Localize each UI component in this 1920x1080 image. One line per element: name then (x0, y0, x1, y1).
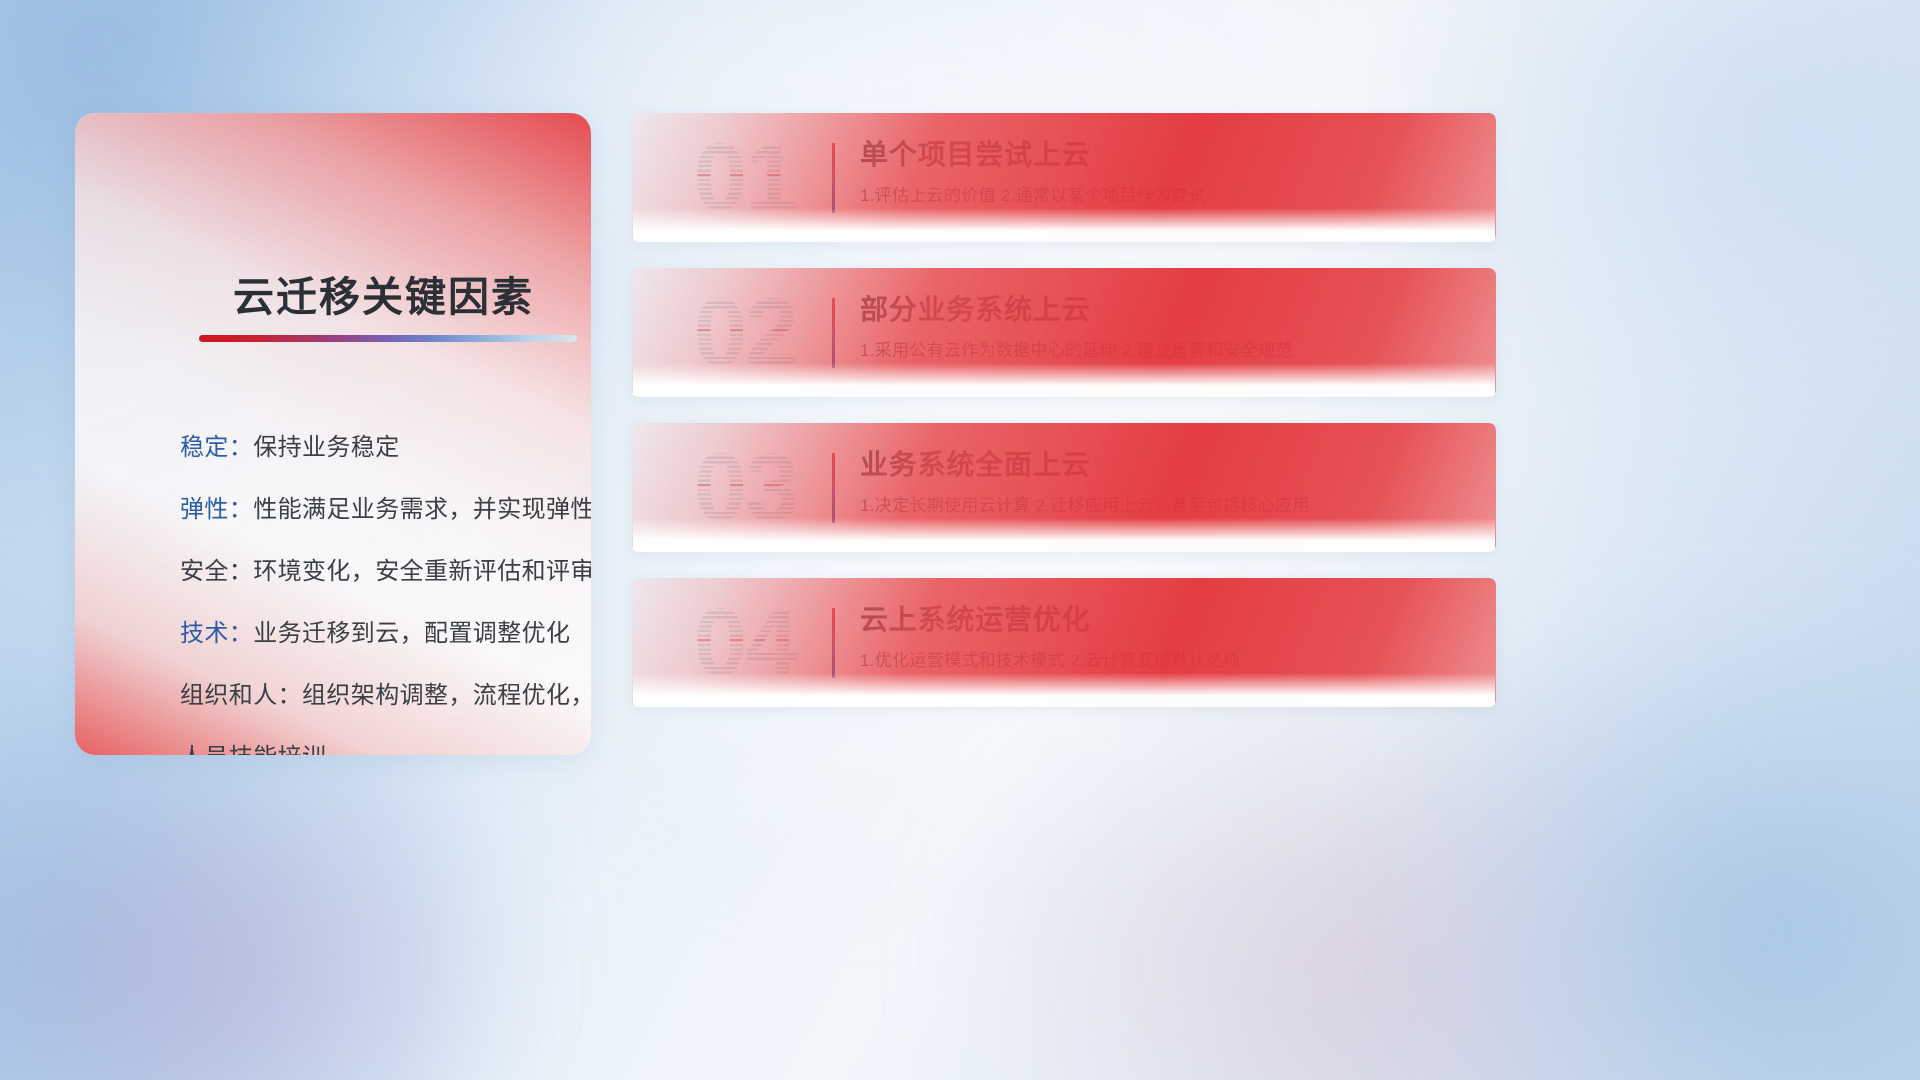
card-text-block: 单个项目尝试上云1.评估上云的价值 2.通常以某个项目作为尝试 (860, 135, 1472, 211)
card-subtitle: 1.优化运营模式和技术模式 2.云计算变成默认选项 (860, 646, 1472, 676)
key-factors-panel: 云迁移关键因素 稳定：保持业务稳定弹性：性能满足业务需求，并实现弹性安全：环境变… (75, 113, 591, 755)
key-factor-label: 安全： (180, 558, 253, 585)
card-accent-divider (832, 608, 835, 678)
key-factor-label: 弹性： (180, 496, 253, 523)
card-text-block: 云上系统运营优化1.优化运营模式和技术模式 2.云计算变成默认选项 (860, 600, 1472, 676)
page-title: 云迁移关键因素 (233, 263, 534, 323)
card-accent-divider (832, 453, 835, 523)
card-title: 部分业务系统上云 (860, 290, 1472, 330)
card-subtitle: 1.决定长期使用云计算 2.迁移应用上云，甚至包括核心应用 (860, 491, 1472, 521)
key-factor-text: 业务迁移到云，配置调整优化 (253, 620, 570, 647)
key-factor-text: 保持业务稳定 (253, 434, 399, 461)
slide-stage: 云迁移关键因素 稳定：保持业务稳定弹性：性能满足业务需求，并实现弹性安全：环境变… (0, 0, 1920, 1080)
key-factor-line: 组织和人：组织架构调整，流程优化， (180, 665, 591, 727)
stage-number-watermark-accent: 03 (654, 429, 836, 547)
card-title: 单个项目尝试上云 (860, 135, 1472, 175)
card-title: 业务系统全面上云 (860, 445, 1472, 485)
stage-card[interactable]: 0101单个项目尝试上云1.评估上云的价值 2.通常以某个项目作为尝试 (632, 113, 1496, 242)
key-factor-line: 安全：环境变化，安全重新评估和评审 (180, 541, 591, 603)
card-subtitle: 1.评估上云的价值 2.通常以某个项目作为尝试 (860, 181, 1472, 211)
key-factor-text: 人员技能培训 (180, 744, 326, 755)
key-factor-line: 技术：业务迁移到云，配置调整优化 (180, 603, 591, 665)
stage-number-watermark-accent: 02 (654, 274, 836, 392)
cloud-migration-stages-list: 0101单个项目尝试上云1.评估上云的价值 2.通常以某个项目作为尝试0202部… (632, 113, 1496, 733)
card-title: 云上系统运营优化 (860, 600, 1472, 640)
card-accent-divider (832, 298, 835, 368)
stage-card[interactable]: 0202部分业务系统上云1.采用公有云作为数据中心的延伸 2.建立运营和安全规范 (632, 268, 1496, 397)
title-gradient-rule (199, 335, 577, 342)
stage-card[interactable]: 0303业务系统全面上云1.决定长期使用云计算 2.迁移应用上云，甚至包括核心应… (632, 423, 1496, 552)
key-factors-list: 稳定：保持业务稳定弹性：性能满足业务需求，并实现弹性安全：环境变化，安全重新评估… (180, 417, 591, 755)
key-factor-line: 稳定：保持业务稳定 (180, 417, 591, 479)
key-factor-text: 组织架构调整，流程优化， (302, 682, 591, 709)
key-factor-line: 人员技能培训 (180, 727, 591, 755)
stage-card[interactable]: 0404云上系统运营优化1.优化运营模式和技术模式 2.云计算变成默认选项 (632, 578, 1496, 707)
card-accent-divider (832, 143, 835, 213)
card-text-block: 业务系统全面上云1.决定长期使用云计算 2.迁移应用上云，甚至包括核心应用 (860, 445, 1472, 521)
key-factor-label: 稳定： (180, 434, 253, 461)
stage-number-watermark-accent: 01 (654, 119, 836, 237)
key-factor-label: 技术： (180, 620, 253, 647)
stage-number-watermark-accent: 04 (654, 584, 836, 702)
key-factor-text: 性能满足业务需求，并实现弹性 (253, 496, 591, 523)
card-text-block: 部分业务系统上云1.采用公有云作为数据中心的延伸 2.建立运营和安全规范 (860, 290, 1472, 366)
key-factor-text: 环境变化，安全重新评估和评审 (253, 558, 591, 585)
card-subtitle: 1.采用公有云作为数据中心的延伸 2.建立运营和安全规范 (860, 336, 1472, 366)
key-factor-label: 组织和人： (180, 682, 302, 709)
key-factor-line: 弹性：性能满足业务需求，并实现弹性 (180, 479, 591, 541)
